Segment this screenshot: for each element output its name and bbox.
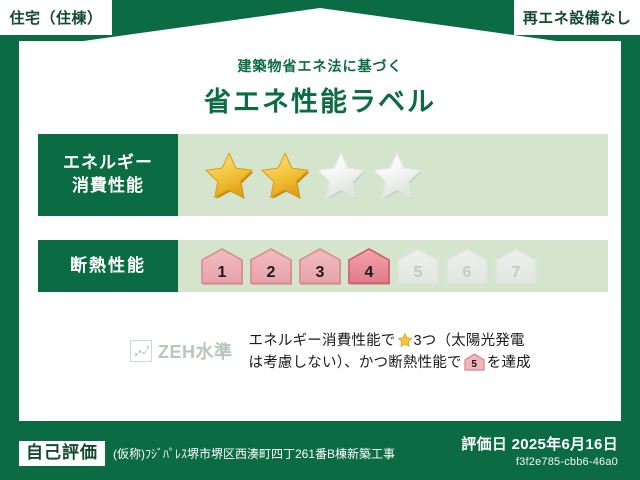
zeh-label: ZEH水準 xyxy=(158,338,233,364)
evaluation-date: 評価日 2025年6月16日 xyxy=(461,433,618,454)
insulation-level-badge: 2 xyxy=(249,247,293,285)
star-filled-icon xyxy=(260,150,310,200)
zeh-description-block: ZEH水準 エネルギー消費性能で 3つ（太陽光発電 は考慮しない）、かつ断熱性能… xyxy=(130,330,570,375)
insulation-level-badge: 3 xyxy=(298,247,342,285)
insulation-performance-panel: 1234567 xyxy=(178,240,608,292)
desc-part-1: エネルギー消費性能で xyxy=(249,333,396,349)
insulation-performance-label-box: 断熱性能 xyxy=(38,240,178,292)
insulation-level-scale: 1234567 xyxy=(200,247,538,285)
energy-label-line1: エネルギー xyxy=(63,152,153,175)
insulation-level-number: 1 xyxy=(200,265,244,281)
insulation-level-badge: 7 xyxy=(494,247,538,285)
energy-label-line2: 消費性能 xyxy=(72,175,144,198)
zeh-mark: ZEH水準 xyxy=(130,330,233,364)
star-empty-icon xyxy=(316,150,366,200)
inline-house-badge: 5 xyxy=(464,353,485,371)
renewable-energy-tag: 再エネ設備なし xyxy=(514,0,640,35)
insulation-level-number: 6 xyxy=(445,265,489,281)
footer-left: 自己評価 (仮称)ﾌｼﾞﾊﾟﾚｽ堺市堺区西湊町四丁261番B棟新築工事 xyxy=(19,441,395,466)
desc-part-2: は考慮しない）、かつ断熱性能で xyxy=(249,355,462,371)
insulation-level-badge: 1 xyxy=(200,247,244,285)
star-filled-icon xyxy=(204,150,254,200)
inline-house-number: 5 xyxy=(464,360,485,370)
inline-star-icon xyxy=(397,332,413,348)
star-rating xyxy=(204,150,422,200)
insulation-level-number: 4 xyxy=(347,265,391,281)
insulation-level-badge: 6 xyxy=(445,247,489,285)
achievement-description: エネルギー消費性能で 3つ（太陽光発電 は考慮しない）、かつ断熱性能で 5 を達… xyxy=(249,330,531,375)
desc-part-3: を達成 xyxy=(487,355,531,371)
insulation-level-number: 3 xyxy=(298,265,342,281)
energy-performance-label: 住宅（住棟） 再エネ設備なし 建築物省エネ法に基づく 省エネ性能ラベル エネルギ… xyxy=(0,0,640,480)
zeh-chart-icon xyxy=(130,340,152,362)
star-empty-icon xyxy=(372,150,422,200)
insulation-level-badge: 4 xyxy=(347,247,391,285)
energy-performance-panel xyxy=(178,134,608,216)
footer-right: 評価日 2025年6月16日 f3f2e785-cbb6-46a0 xyxy=(461,433,618,468)
building-type-tag: 住宅（住棟） xyxy=(0,0,112,35)
evaluation-id: f3f2e785-cbb6-46a0 xyxy=(461,456,618,468)
label-subtitle: 建築物省エネ法に基づく xyxy=(0,56,640,76)
insulation-level-number: 2 xyxy=(249,265,293,281)
desc-star-count: 3つ（太陽光発電 xyxy=(414,333,525,349)
insulation-level-number: 7 xyxy=(494,265,538,281)
self-evaluation-badge: 自己評価 xyxy=(19,441,105,466)
label-title: 省エネ性能ラベル xyxy=(0,80,640,119)
energy-performance-label-box: エネルギー 消費性能 xyxy=(38,134,178,216)
title-block: 建築物省エネ法に基づく 省エネ性能ラベル xyxy=(0,56,640,119)
insulation-level-number: 5 xyxy=(396,265,440,281)
energy-performance-row: エネルギー 消費性能 xyxy=(38,134,608,216)
insulation-level-badge: 5 xyxy=(396,247,440,285)
project-name: (仮称)ﾌｼﾞﾊﾟﾚｽ堺市堺区西湊町四丁261番B棟新築工事 xyxy=(113,445,395,462)
insulation-performance-row: 断熱性能 1234567 xyxy=(38,240,608,292)
